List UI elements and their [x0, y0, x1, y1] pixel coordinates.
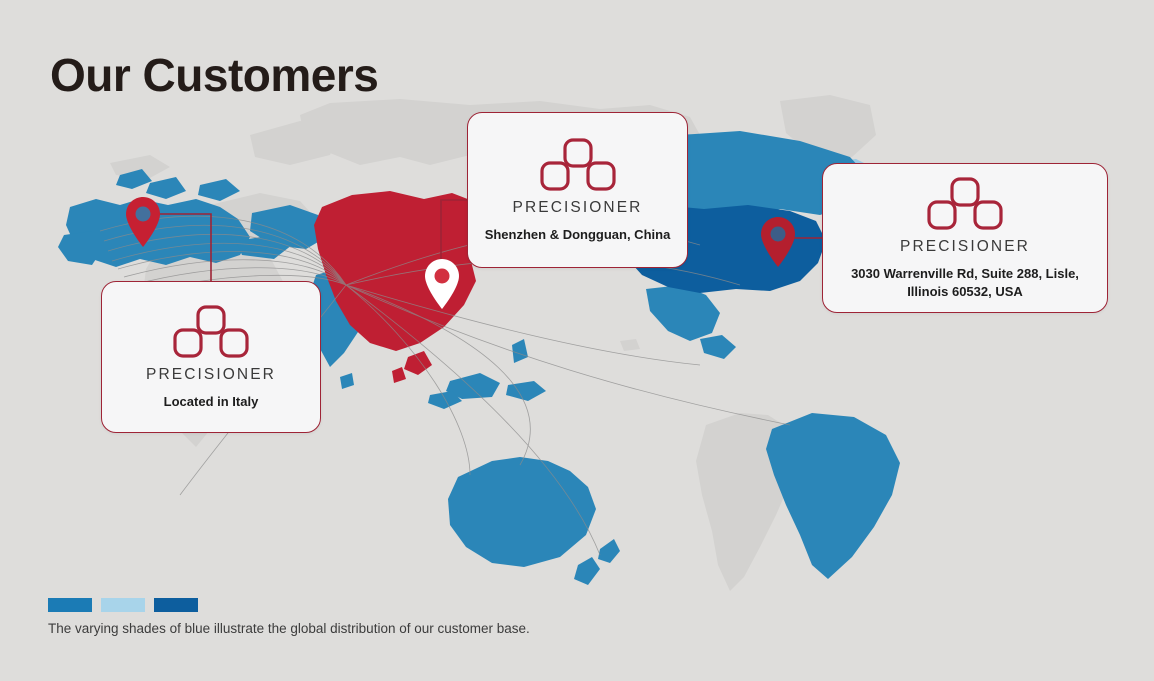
- map-pin-icon: [425, 259, 459, 309]
- legend-swatch-medium: [48, 598, 92, 612]
- legend-caption: The varying shades of blue illustrate th…: [48, 621, 530, 636]
- precisioner-logo-icon: [172, 304, 250, 362]
- card-brand-name: PRECISIONER: [513, 199, 643, 217]
- card-location-text: Shenzhen & Dongguan, China: [475, 226, 681, 244]
- map-pin-europe[interactable]: [124, 196, 162, 248]
- legend-swatch-light: [101, 598, 145, 612]
- info-card-usa[interactable]: PRECISIONER 3030 Warrenville Rd, Suite 2…: [822, 163, 1108, 313]
- map-pin-china[interactable]: [423, 258, 461, 310]
- precisioner-logo-icon: [926, 176, 1004, 234]
- legend-swatch-dark: [154, 598, 198, 612]
- card-brand-name: PRECISIONER: [900, 238, 1030, 256]
- page-title: Our Customers: [50, 52, 378, 98]
- precisioner-logo-icon: [539, 137, 617, 195]
- map-pin-icon: [126, 197, 160, 247]
- info-card-china[interactable]: PRECISIONER Shenzhen & Dongguan, China: [467, 112, 688, 268]
- card-location-text: Located in Italy: [154, 393, 269, 411]
- card-brand-name: PRECISIONER: [146, 366, 276, 384]
- card-location-text: 3030 Warrenville Rd, Suite 288, Lisle, I…: [823, 265, 1107, 300]
- info-card-italy[interactable]: PRECISIONER Located in Italy: [101, 281, 321, 433]
- map-pin-icon: [761, 217, 795, 267]
- legend-swatches: [48, 598, 198, 612]
- slide-canvas: Our Customers: [0, 0, 1154, 681]
- map-pin-usa[interactable]: [759, 216, 797, 268]
